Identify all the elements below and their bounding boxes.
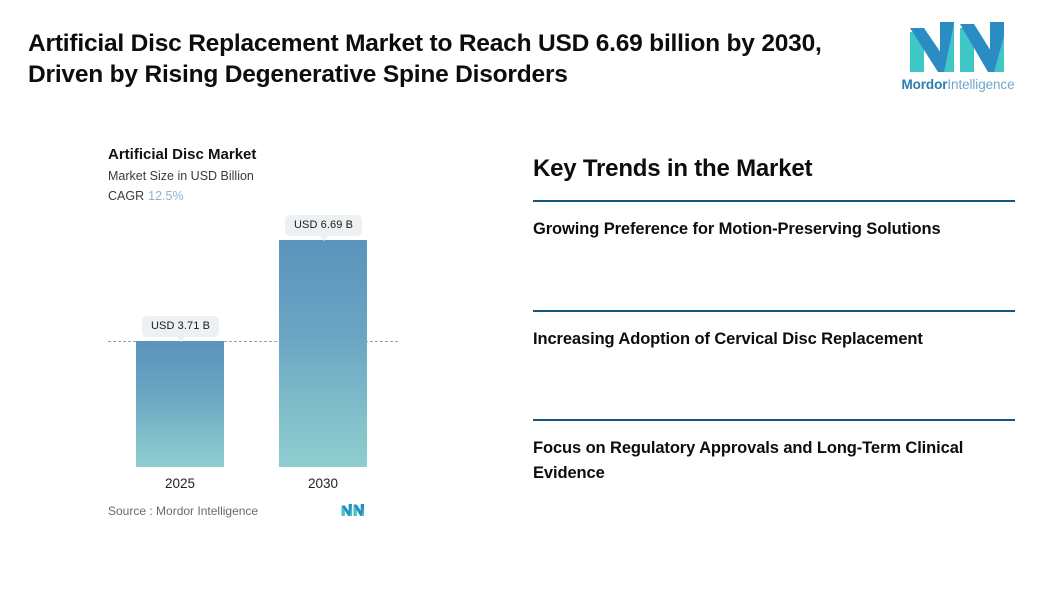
trend-divider <box>533 200 1015 202</box>
bar-2025[interactable] <box>136 341 224 467</box>
brand-name-light: Intelligence <box>947 77 1014 92</box>
bar-value-label-2030: USD 6.69 B <box>285 215 362 236</box>
trend-item[interactable]: Increasing Adoption of Cervical Disc Rep… <box>533 310 1015 352</box>
source-logo-icon <box>341 502 365 523</box>
x-axis-tick-2025: 2025 <box>130 476 230 491</box>
page-header: Artificial Disc Replacement Market to Re… <box>0 0 1041 118</box>
bar-value-label-2025: USD 3.71 B <box>142 316 219 337</box>
key-trends-panel: Key Trends in the Market Growing Prefere… <box>533 118 1015 594</box>
trend-label: Increasing Adoption of Cervical Disc Rep… <box>533 327 1003 352</box>
page-title: Artificial Disc Replacement Market to Re… <box>28 28 878 91</box>
key-trends-heading: Key Trends in the Market <box>533 155 812 183</box>
trend-item[interactable]: Growing Preference for Motion-Preserving… <box>533 200 1015 242</box>
chart-panel: Artificial Disc Market Market Size in US… <box>0 118 500 594</box>
trend-divider <box>533 310 1015 312</box>
brand-logo: MordorIntelligence <box>898 22 1018 104</box>
trend-divider <box>533 419 1015 421</box>
mordor-intelligence-logo-icon <box>908 22 1008 72</box>
chart-source: Source : Mordor Intelligence <box>108 502 398 526</box>
trend-label: Focus on Regulatory Approvals and Long-T… <box>533 436 1003 486</box>
source-label: Source : <box>108 504 153 518</box>
trend-item[interactable]: Focus on Regulatory Approvals and Long-T… <box>533 419 1015 486</box>
bar-2030[interactable] <box>279 240 367 467</box>
source-name: Mordor Intelligence <box>156 504 258 518</box>
trend-label: Growing Preference for Motion-Preserving… <box>533 217 1003 242</box>
brand-name-bold: Mordor <box>901 77 947 92</box>
brand-wordmark: MordorIntelligence <box>898 77 1018 92</box>
x-axis-tick-2030: 2030 <box>273 476 373 491</box>
bar-chart-plot: USD 3.71 B2025USD 6.69 B2030 <box>0 118 500 518</box>
source-text: Source : Mordor Intelligence <box>108 504 258 518</box>
